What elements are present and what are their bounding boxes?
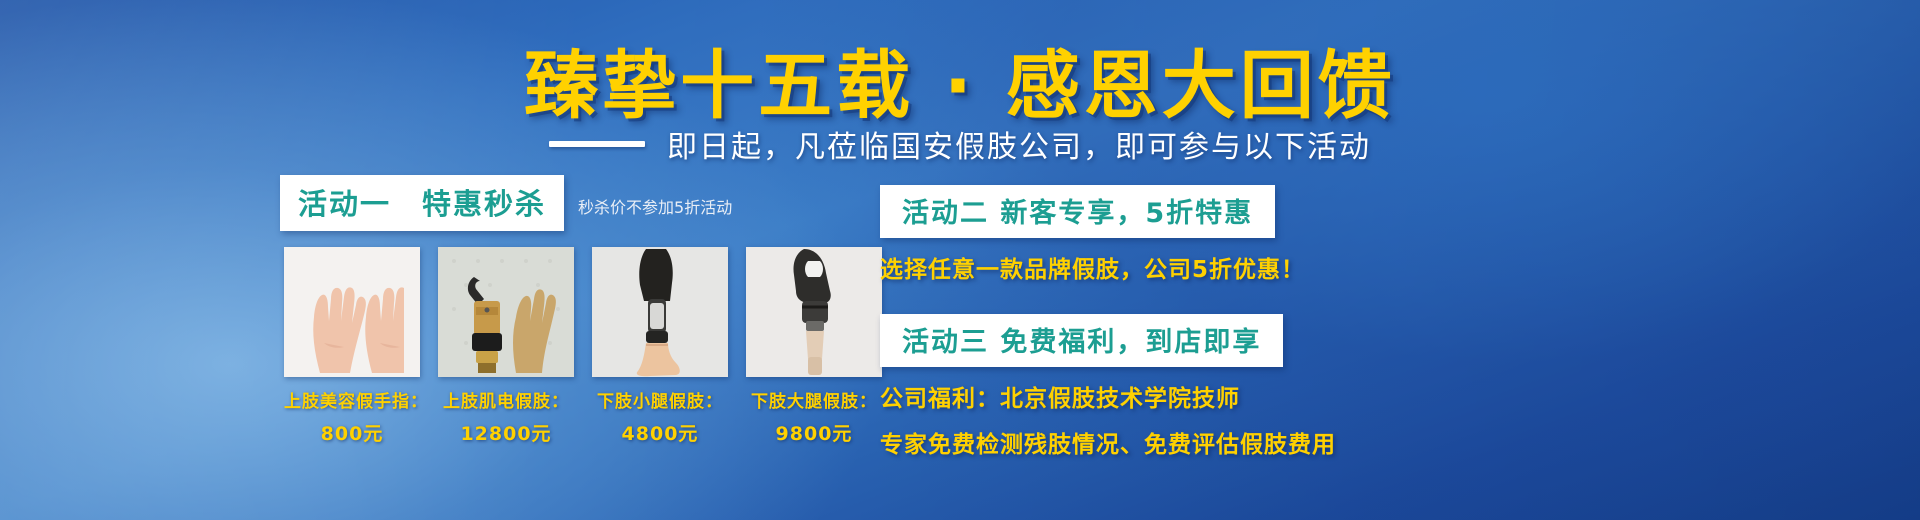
promo-two-badge: 活动二 新客专享，5折特惠: [880, 185, 1275, 238]
promo-right-column: 活动二 新客专享，5折特惠 选择任意一款品牌假肢，公司5折优惠！ 活动三 免费福…: [880, 185, 1440, 459]
promo-three-detail-line-2: 专家免费检测残肢情况、免费评估假肢费用: [880, 425, 1440, 459]
above-knee-leg-image: [746, 247, 882, 377]
myoelectric-arm-image: [438, 247, 574, 377]
product-name: 下肢小腿假肢：: [592, 387, 728, 412]
product-list: 上肢美容假手指： 800元: [284, 247, 900, 446]
product-price: 4800元: [592, 419, 728, 446]
promotional-banner: 臻挚十五载 · 感恩大回馈 即日起，凡莅临国安假肢公司，即可参与以下活动 活动一…: [0, 0, 1920, 520]
promo-one-section: 活动一 特惠秒杀 秒杀价不参加5折活动: [280, 175, 900, 446]
horizontal-rule-decoration: [549, 141, 645, 147]
banner-subline-group: 即日起，凡莅临国安假肢公司，即可参与以下活动: [0, 122, 1920, 166]
product-name: 下肢大腿假肢：: [746, 387, 882, 412]
product-item[interactable]: 下肢小腿假肢： 4800元: [592, 247, 728, 446]
promo-one-note: 秒杀价不参加5折活动: [578, 188, 732, 218]
promo-three-detail-line-1: 公司福利：北京假肢技术学院技师: [880, 379, 1440, 413]
product-price: 9800元: [746, 419, 882, 446]
banner-headline: 臻挚十五载 · 感恩大回馈: [0, 26, 1920, 133]
promo-three-badge: 活动三 免费福利，到店即享: [880, 314, 1283, 367]
product-price: 12800元: [438, 419, 574, 446]
product-price: 800元: [284, 419, 420, 446]
below-knee-leg-image: [592, 247, 728, 377]
product-name: 上肢美容假手指：: [284, 387, 420, 412]
banner-subline: 即日起，凡莅临国安假肢公司，即可参与以下活动: [667, 122, 1371, 166]
section-spacer: [880, 284, 1440, 314]
promo-one-badge: 活动一 特惠秒杀: [280, 175, 564, 231]
promo-one-header: 活动一 特惠秒杀 秒杀价不参加5折活动: [280, 175, 900, 231]
product-item[interactable]: 下肢大腿假肢： 9800元: [746, 247, 882, 446]
promo-two-detail: 选择任意一款品牌假肢，公司5折优惠！: [880, 250, 1440, 284]
product-item[interactable]: 上肢美容假手指： 800元: [284, 247, 420, 446]
product-name: 上肢肌电假肢：: [438, 387, 574, 412]
hands-image: [284, 247, 420, 377]
product-item[interactable]: 上肢肌电假肢： 12800元: [438, 247, 574, 446]
